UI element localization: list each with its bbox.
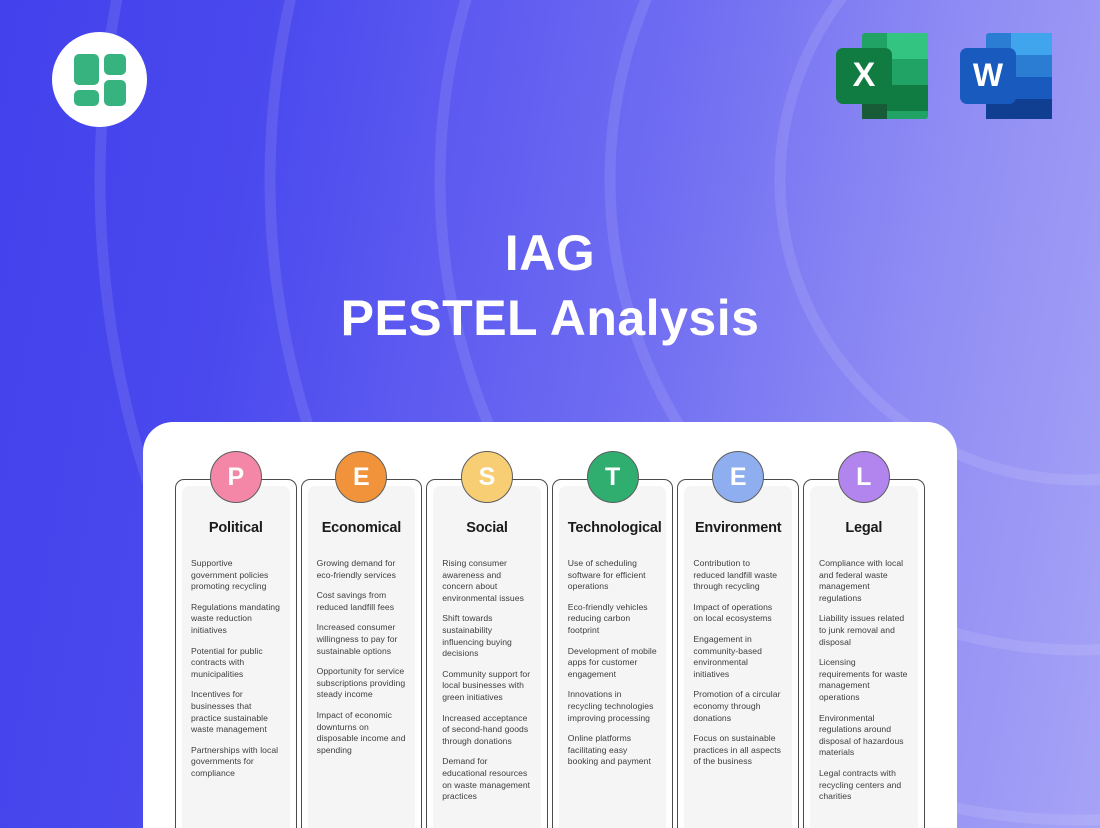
pestel-point: Opportunity for service subscriptions pr…	[317, 666, 407, 701]
pestel-letter-badge: E	[335, 451, 387, 503]
pestel-column-technological: TTechnologicalUse of scheduling software…	[550, 479, 676, 828]
pestel-card-body: TechnologicalUse of scheduling software …	[559, 486, 667, 828]
pestel-letter-badge: T	[587, 451, 639, 503]
hero-title-block: IAG PESTEL Analysis	[0, 222, 1100, 352]
pestel-category-title: Economical	[317, 520, 407, 536]
pestel-card-body: LegalCompliance with local and federal w…	[810, 486, 918, 828]
pestel-point: Focus on sustainable practices in all as…	[693, 733, 783, 768]
pestel-card[interactable]: LLegalCompliance with local and federal …	[803, 479, 925, 828]
pestel-card-body: SocialRising consumer awareness and conc…	[433, 486, 541, 828]
pestel-point-list: Supportive government policies promoting…	[191, 558, 281, 780]
pestel-point: Use of scheduling software for efficient…	[568, 558, 658, 593]
pestel-letter-badge: S	[461, 451, 513, 503]
pestel-card-body: EnvironmentContribution to reduced landf…	[684, 486, 792, 828]
pestel-column-environment: EEnvironmentContribution to reduced land…	[675, 479, 801, 828]
pestel-card[interactable]: PPoliticalSupportive government policies…	[175, 479, 297, 828]
grid-logo-icon	[74, 54, 126, 106]
pestel-category-title: Environment	[693, 520, 783, 536]
export-icons: X W	[832, 28, 1056, 124]
pestel-point: Online platforms facilitating easy booki…	[568, 733, 658, 768]
pestel-point: Community support for local businesses w…	[442, 669, 532, 704]
pestel-column-economical: EEconomicalGrowing demand for eco-friend…	[299, 479, 425, 828]
pestel-point-list: Rising consumer awareness and concern ab…	[442, 558, 532, 803]
pestel-point: Increased consumer willingness to pay fo…	[317, 622, 407, 657]
pestel-point: Environmental regulations around disposa…	[819, 713, 909, 759]
svg-text:X: X	[853, 56, 876, 94]
pestel-point: Contribution to reduced landfill waste t…	[693, 558, 783, 593]
word-icon[interactable]: W	[956, 28, 1056, 124]
pestel-point: Rising consumer awareness and concern ab…	[442, 558, 532, 604]
pestel-point: Licensing requirements for waste managem…	[819, 657, 909, 703]
pestel-point: Partnerships with local governments for …	[191, 745, 281, 780]
pestel-panel: PPoliticalSupportive government policies…	[143, 422, 957, 828]
pestel-point-list: Growing demand for eco-friendly services…	[317, 558, 407, 756]
pestel-point: Development of mobile apps for customer …	[568, 646, 658, 681]
pestel-point-list: Contribution to reduced landfill waste t…	[693, 558, 783, 768]
company-name: IAG	[0, 222, 1100, 284]
pestel-point: Cost savings from reduced landfill fees	[317, 590, 407, 613]
pestel-point: Increased acceptance of second-hand good…	[442, 713, 532, 748]
pestel-point: Demand for educational resources on wast…	[442, 756, 532, 802]
pestel-card-body: PoliticalSupportive government policies …	[182, 486, 290, 828]
pestel-point: Eco-friendly vehicles reducing carbon fo…	[568, 602, 658, 637]
pestel-point: Compliance with local and federal waste …	[819, 558, 909, 604]
pestel-point: Shift towards sustainability influencing…	[442, 613, 532, 659]
pestel-point: Innovations in recycling technologies im…	[568, 689, 658, 724]
pestel-point: Supportive government policies promoting…	[191, 558, 281, 593]
pestel-category-title: Social	[442, 520, 532, 536]
pestel-column-political: PPoliticalSupportive government policies…	[173, 479, 299, 828]
pestel-category-title: Political	[191, 520, 281, 536]
pestel-letter-badge: P	[210, 451, 262, 503]
pestel-card[interactable]: EEconomicalGrowing demand for eco-friend…	[301, 479, 423, 828]
pestel-point-list: Compliance with local and federal waste …	[819, 558, 909, 803]
pestel-card[interactable]: SSocialRising consumer awareness and con…	[426, 479, 548, 828]
pestel-point: Incentives for businesses that practice …	[191, 689, 281, 735]
pestel-category-title: Legal	[819, 520, 909, 536]
pestel-grid: PPoliticalSupportive government policies…	[173, 479, 927, 828]
pestel-point: Liability issues related to junk removal…	[819, 613, 909, 648]
pestel-point: Engagement in community-based environmen…	[693, 634, 783, 680]
pestel-point: Impact of operations on local ecosystems	[693, 602, 783, 625]
pestel-point: Legal contracts with recycling centers a…	[819, 768, 909, 803]
pestel-letter-badge: E	[712, 451, 764, 503]
pestel-point: Regulations mandating waste reduction in…	[191, 602, 281, 637]
pestel-letter-badge: L	[838, 451, 890, 503]
pestel-point: Growing demand for eco-friendly services	[317, 558, 407, 581]
svg-text:W: W	[973, 57, 1004, 93]
pestel-column-social: SSocialRising consumer awareness and con…	[424, 479, 550, 828]
pestel-card[interactable]: EEnvironmentContribution to reduced land…	[677, 479, 799, 828]
page-title: PESTEL Analysis	[0, 284, 1100, 352]
pestel-category-title: Technological	[568, 520, 658, 536]
pestel-card-body: EconomicalGrowing demand for eco-friendl…	[308, 486, 416, 828]
pestel-point: Potential for public contracts with muni…	[191, 646, 281, 681]
pestel-point: Promotion of a circular economy through …	[693, 689, 783, 724]
pestel-card[interactable]: TTechnologicalUse of scheduling software…	[552, 479, 674, 828]
pestel-point-list: Use of scheduling software for efficient…	[568, 558, 658, 768]
pestel-point: Impact of economic downturns on disposab…	[317, 710, 407, 756]
slide-canvas: X W IAG PESTEL Analysis PPoliticalSuppor…	[0, 0, 1100, 828]
brand-logo	[52, 32, 147, 127]
excel-icon[interactable]: X	[832, 28, 932, 124]
pestel-column-legal: LLegalCompliance with local and federal …	[801, 479, 927, 828]
